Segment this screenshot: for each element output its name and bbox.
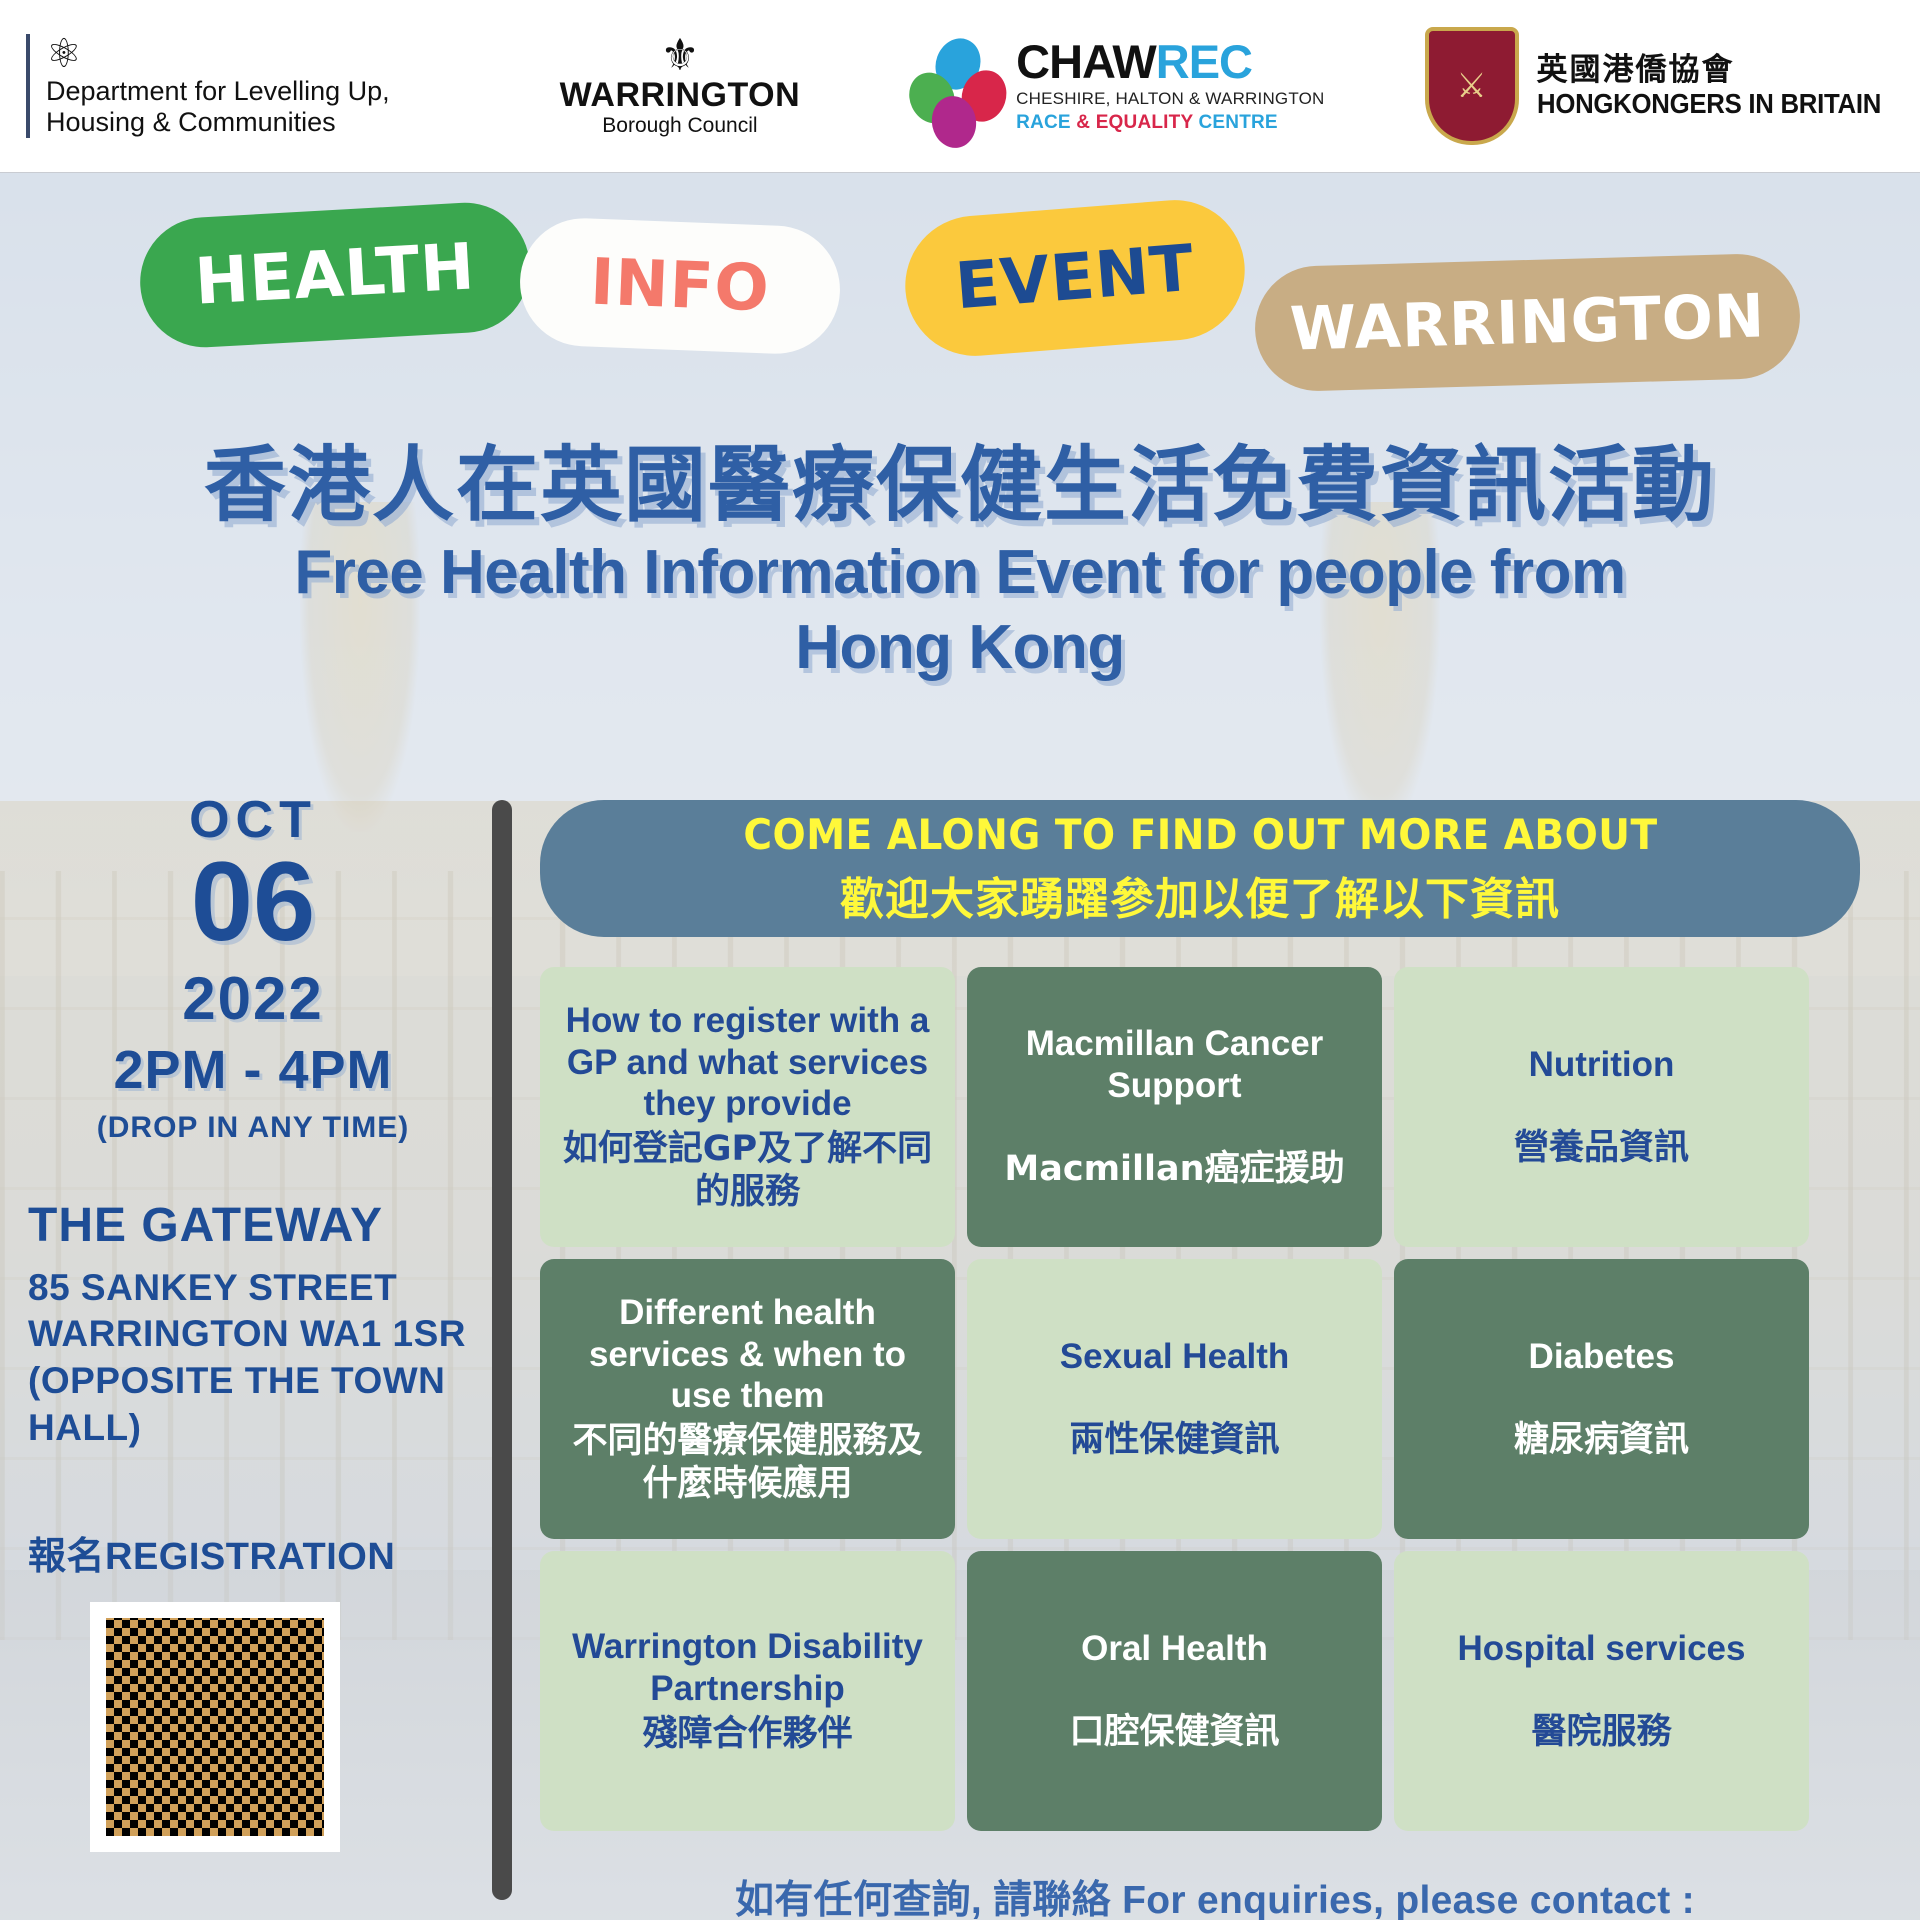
topic-card: Warrington Disability Partnership 殘障合作夥伴 (540, 1551, 955, 1831)
event-drop-in-note: (DROP IN ANY TIME) (28, 1111, 478, 1145)
logo-chawrec: CHAWREC CHESHIRE, HALTON & WARRINGTON RA… (910, 38, 1324, 134)
topic-english: Sexual Health (1060, 1336, 1290, 1377)
topics-grid: How to register with a GP and what servi… (540, 967, 1890, 1831)
logo-hongkongers-in-britain: ⚔ 英國港僑協會 HONGKONGERS IN BRITAIN (1425, 27, 1911, 145)
page-title: 香港人在英國醫療保健生活免費資訊活動 Free Health Informati… (90, 440, 1830, 683)
topic-card: Diabetes 糖尿病資訊 (1394, 1259, 1809, 1539)
topic-chinese: 不同的醫療保健服務及什麼時候應用 (558, 1420, 937, 1505)
topic-chinese: 營養品資訊 (1514, 1127, 1689, 1170)
topic-card: Oral Health 口腔保健資訊 (967, 1551, 1382, 1831)
topic-english: Nutrition (1529, 1044, 1675, 1085)
topic-english: How to register with a GP and what servi… (558, 1000, 937, 1124)
banner-chinese: 歡迎大家踴躍參加以便了解以下資訊 (840, 863, 1560, 927)
borough-crest-icon: ⚜ (660, 34, 699, 78)
pill-health: HEALTH (137, 199, 534, 351)
registration-label: 報名REGISTRATION (28, 1525, 478, 1580)
topic-card: Hospital services 醫院服務 (1394, 1551, 1809, 1831)
title-english-line1: Free Health Information Event for people… (90, 538, 1830, 607)
topic-chinese: 糖尿病資訊 (1514, 1419, 1689, 1462)
pill-warrington: WARRINGTON (1253, 252, 1801, 392)
topic-chinese: 兩性保健資訊 (1069, 1419, 1279, 1462)
title-english-line2: Hong Kong (90, 613, 1830, 682)
venue-address: 85 SANKEY STREET WARRINGTON WA1 1SR (OPP… (28, 1265, 478, 1451)
partner-logo-bar: ⚛ Department for Levelling Up, Housing &… (0, 0, 1920, 173)
topic-card: Sexual Health 兩性保健資訊 (967, 1259, 1382, 1539)
contact-footer: 如有任何查詢, 請聯絡 For enquiries, please contac… (540, 1869, 1890, 1920)
topic-english: Macmillan Cancer Support (985, 1023, 1364, 1106)
chawrec-blobs-icon (910, 38, 1006, 134)
logo-warrington-borough-council: ⚜ WARRINGTON Borough Council (560, 34, 800, 139)
event-details-column: OCT 06 2022 2PM - 4PM (DROP IN ANY TIME)… (28, 790, 478, 1852)
come-along-banner: COME ALONG TO FIND OUT MORE ABOUT 歡迎大家踴躍… (540, 800, 1860, 937)
topic-english: Different health services & when to use … (558, 1292, 937, 1416)
hkb-lion-shield-icon: ⚔ (1425, 27, 1519, 145)
wbc-sub: Borough Council (602, 113, 757, 138)
title-pill-row: HEALTH INFO EVENT WARRINGTON (0, 200, 1920, 410)
vertical-divider (492, 800, 512, 1900)
chawrec-name-light: REC (1156, 35, 1252, 88)
chawrec-amp: & (1071, 112, 1096, 133)
topics-column: COME ALONG TO FIND OUT MORE ABOUT 歡迎大家踴躍… (540, 800, 1890, 1920)
topic-chinese: 醫院服務 (1531, 1711, 1671, 1754)
topic-chinese: 口腔保健資訊 (1069, 1711, 1279, 1754)
chawrec-race: RACE (1016, 112, 1071, 133)
hkb-english-name: HONGKONGERS IN BRITAIN (1537, 88, 1881, 120)
poster-root: ⚛ Department for Levelling Up, Housing &… (0, 0, 1920, 1920)
chawrec-name-dark: CHAW (1016, 35, 1156, 88)
chawrec-equality: EQUALITY (1096, 112, 1193, 133)
wbc-name: WARRINGTON (560, 78, 800, 114)
dluhc-line1: Department for Levelling Up, (46, 76, 390, 107)
royal-crest-icon: ⚛ (46, 34, 390, 74)
chawrec-sub1: CHESHIRE, HALTON & WARRINGTON (1016, 89, 1324, 109)
banner-english: COME ALONG TO FIND OUT MORE ABOUT (743, 810, 1657, 859)
logo-dluhc: ⚛ Department for Levelling Up, Housing &… (26, 34, 390, 139)
topic-card: Different health services & when to use … (540, 1259, 955, 1539)
topic-english: Hospital services (1458, 1628, 1746, 1669)
topic-english: Warrington Disability Partnership (558, 1626, 937, 1709)
title-chinese: 香港人在英國醫療保健生活免費資訊活動 (90, 440, 1830, 532)
dluhc-line2: Housing & Communities (46, 107, 390, 138)
topic-chinese: 殘障合作夥伴 (642, 1713, 852, 1756)
topic-chinese: Macmillan癌症援助 (1004, 1148, 1344, 1191)
topic-card: How to register with a GP and what servi… (540, 967, 955, 1247)
topic-chinese: 如何登記GP及了解不同的服務 (558, 1128, 937, 1213)
chawrec-centre: CENTRE (1193, 112, 1278, 133)
topic-card: Nutrition 營養品資訊 (1394, 967, 1809, 1247)
topic-card: Macmillan Cancer Support Macmillan癌症援助 (967, 967, 1382, 1247)
event-time: 2PM - 4PM (28, 1039, 478, 1101)
pill-info: INFO (518, 216, 843, 356)
pill-event: EVENT (900, 195, 1250, 361)
venue-name: THE GATEWAY (28, 1199, 478, 1253)
event-day: 06 (28, 846, 478, 958)
topic-english: Oral Health (1081, 1628, 1268, 1669)
hkb-chinese-name: 英國港僑協會 (1537, 52, 1911, 88)
event-year: 2022 (28, 964, 478, 1033)
topic-english: Diabetes (1529, 1336, 1675, 1377)
qr-code[interactable] (90, 1602, 340, 1852)
contact-line1: 如有任何查詢, 請聯絡 For enquiries, please contac… (540, 1869, 1890, 1920)
